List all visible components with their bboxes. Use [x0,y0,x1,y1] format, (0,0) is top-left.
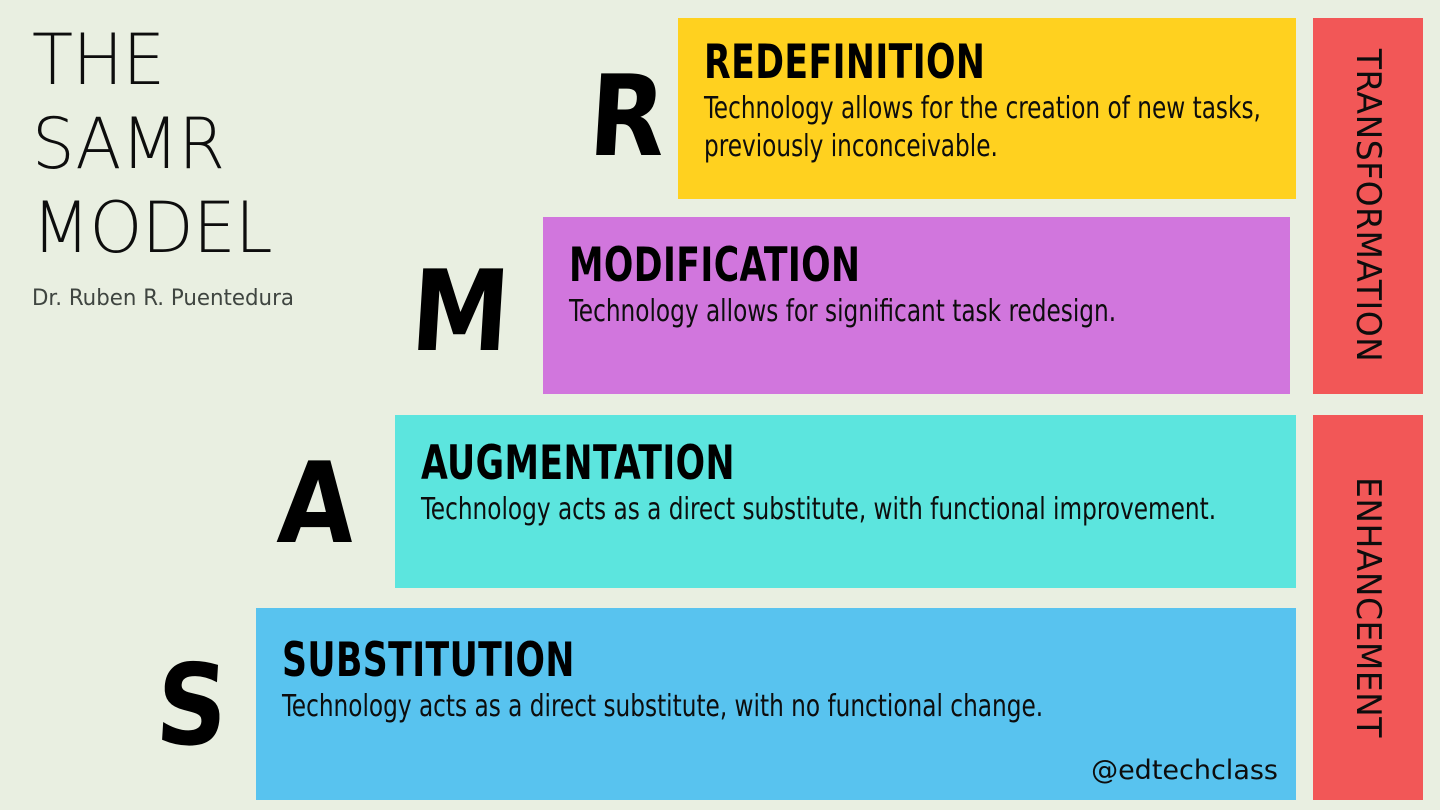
level-redefinition-description: Technology allows for the creation of ne… [704,90,1291,166]
level-modification-text: MODIFICATION Technology allows for signi… [569,239,1276,331]
category-transformation-label: TRANSFORMATION [1348,49,1388,362]
level-augmentation-letter: A [275,448,358,560]
level-augmentation: A AUGMENTATION Technology acts as a dire… [395,415,1296,588]
category-enhancement: ENHANCEMENT [1313,415,1423,800]
category-enhancement-label: ENHANCEMENT [1348,477,1388,738]
category-transformation: TRANSFORMATION [1313,18,1423,394]
samr-poster: THE SAMR MODEL Dr. Ruben R. Puentedura R… [0,0,1440,810]
level-redefinition-text: REDEFINITION Technology allows for the c… [704,36,1282,166]
page-title-line-3: MODEL [32,186,445,270]
author-credit: Dr. Ruben R. Puentedura [32,284,449,314]
level-substitution-text: SUBSTITUTION Technology acts as a direct… [282,634,1282,726]
level-modification-letter: M [408,256,513,368]
level-substitution: S SUBSTITUTION Technology acts as a dire… [256,608,1296,800]
level-augmentation-text: AUGMENTATION Technology acts as a direct… [421,437,1282,529]
page-title-line-1: THE [32,18,445,102]
level-redefinition-title: REDEFINITION [704,36,1178,90]
level-modification-description: Technology allows for significant task r… [569,293,1286,331]
level-substitution-description: Technology acts as a direct substitute, … [282,688,1297,726]
title-block: THE SAMR MODEL Dr. Ruben R. Puentedura [32,18,462,314]
level-substitution-letter: S [153,650,231,762]
level-augmentation-description: Technology acts as a direct substitute, … [421,491,1295,529]
level-modification-title: MODIFICATION [569,239,1149,293]
level-redefinition-letter: R [586,61,669,173]
social-handle: @edtechclass [1091,755,1278,786]
level-substitution-title: SUBSTITUTION [282,634,1102,688]
level-modification: M MODIFICATION Technology allows for sig… [543,217,1290,394]
page-title-line-2: SAMR [32,102,445,186]
level-augmentation-title: AUGMENTATION [421,437,1127,491]
level-redefinition: R REDEFINITION Technology allows for the… [678,18,1296,199]
